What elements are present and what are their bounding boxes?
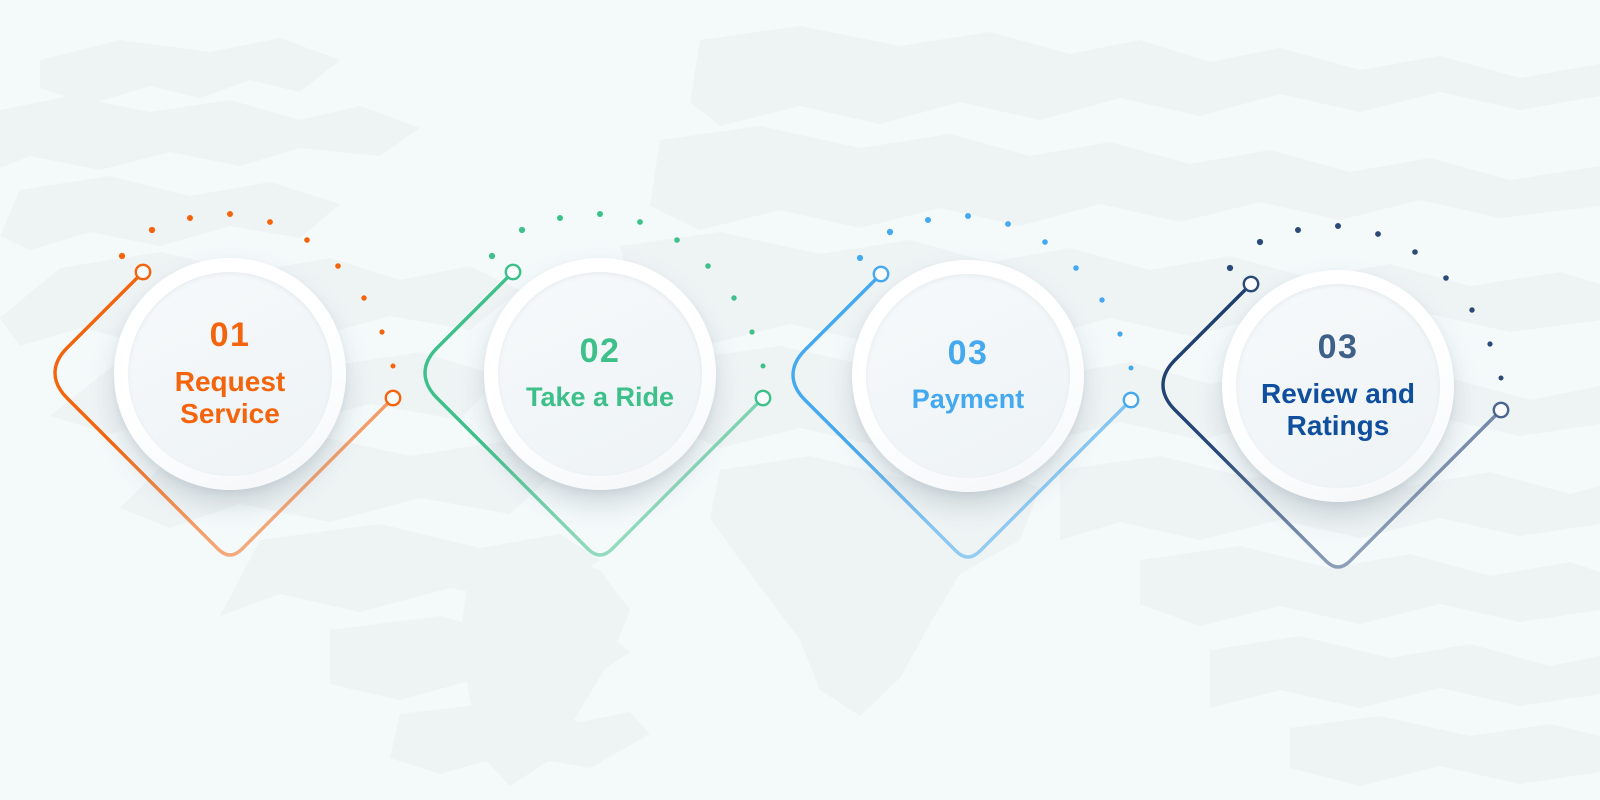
step-item-4[interactable]: 03 Review and Ratings [1128,212,1548,772]
step-number-1: 01 [210,318,251,352]
step-number-4: 03 [1318,330,1359,364]
step-item-2[interactable]: 02 Take a Ride [390,200,810,760]
step-circle-4[interactable]: 03 Review and Ratings [1222,270,1454,502]
circle-face: 02 Take a Ride [498,272,702,476]
infographic-stage: 01 Request Service [0,0,1600,800]
circle-ring: 03 Review and Ratings [1222,270,1454,502]
step-label-line2: Ratings [1287,410,1390,441]
circle-face: 01 Request Service [128,272,332,476]
circle-ring: 03 Payment [852,260,1084,492]
step-label-3: Payment [902,384,1035,415]
steps-container: 01 Request Service [0,0,1600,800]
step-circle-1[interactable]: 01 Request Service [114,258,346,490]
step-label-4: Review and Ratings [1251,378,1425,442]
step-item-3[interactable]: 03 Payment [758,202,1178,762]
step-number-2: 02 [580,334,621,368]
step-number-3: 03 [948,336,989,370]
step-label-line2: Service [180,398,280,429]
circle-ring: 02 Take a Ride [484,258,716,490]
step-label-line1: Review and [1261,378,1415,409]
step-label-line1: Request [175,366,285,397]
circle-ring: 01 Request Service [114,258,346,490]
step-label-1: Request Service [165,366,295,430]
step-circle-3[interactable]: 03 Payment [852,260,1084,492]
step-item-1[interactable]: 01 Request Service [20,200,440,760]
step-circle-2[interactable]: 02 Take a Ride [484,258,716,490]
circle-face: 03 Review and Ratings [1236,284,1440,488]
circle-face: 03 Payment [866,274,1070,478]
step-label-2: Take a Ride [516,382,684,413]
